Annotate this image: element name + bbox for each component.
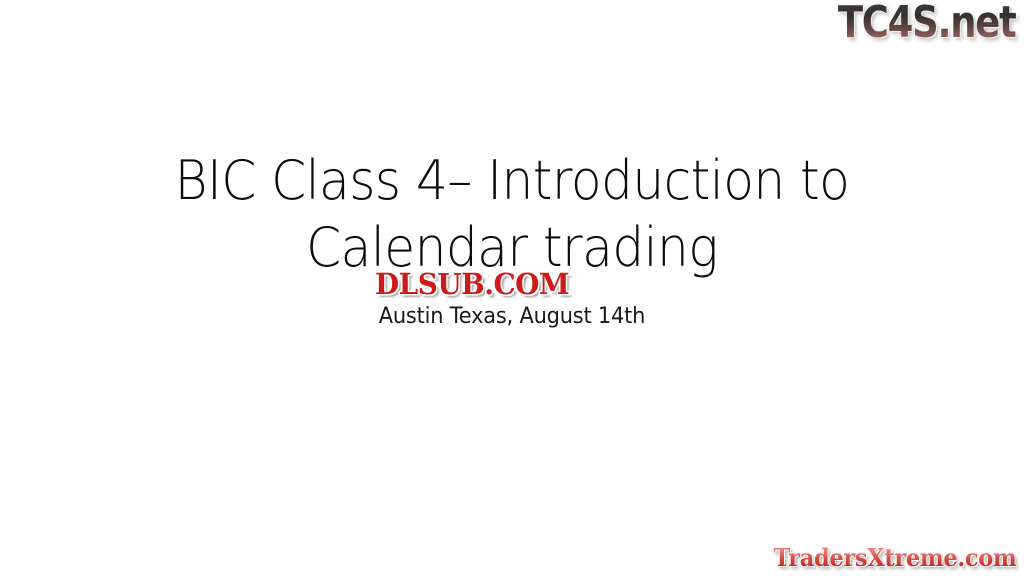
watermark-tc4s-net: TC4S.net: [838, 1, 1016, 45]
slide-subtitle: Austin Texas, August 14th: [117, 303, 907, 331]
watermark-tradersxtreme-com: TradersXtreme.com: [773, 546, 1016, 570]
presentation-slide: BIC Class 4– Introduction to Calendar tr…: [0, 0, 1024, 576]
slide-title-line-1: BIC Class 4– Introduction to: [125, 148, 899, 215]
slide-title-block: BIC Class 4– Introduction to Calendar tr…: [96, 148, 928, 282]
page-title: BIC Class 4– Introduction to Calendar tr…: [125, 148, 899, 282]
slide-subtitle-block: Austin Texas, August 14th: [96, 303, 928, 331]
watermark-dlsub-com: DLSUB.COM: [375, 270, 569, 299]
